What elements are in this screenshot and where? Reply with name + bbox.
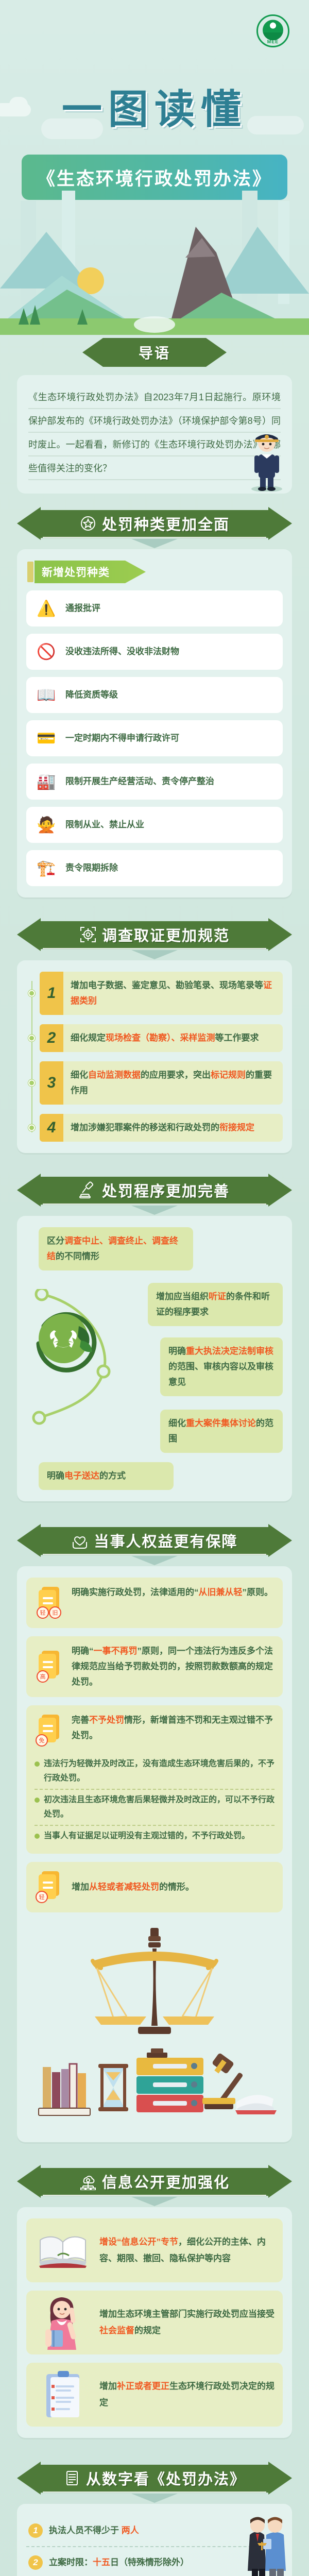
- disclosure-item[interactable]: 增加补正或者更正生态环境行政处罚决定的规定: [26, 2363, 283, 2427]
- ribbon-label: 新增处罚种类: [42, 564, 110, 580]
- judge-and-officer-icon: [241, 2508, 290, 2576]
- ribbon-body: 新增处罚种类: [35, 561, 146, 583]
- procedure-bubble[interactable]: 明确电子送达的方式: [39, 1462, 174, 1490]
- row-number: 4: [40, 1114, 63, 1142]
- banner-shape: 从数字看《处罚办法》: [17, 2462, 292, 2495]
- rights-item[interactable]: 免 完善不予处罚情形，新增首违不罚和无主观过错不予处罚。 违法行为轻微并及时改正…: [26, 1705, 283, 1854]
- row-highlight: 自动监测数据: [88, 1070, 141, 1080]
- banner-title: 处罚种类更加全面: [102, 513, 230, 534]
- lead-section: 导语 《生态环境行政处罚办法》自2023年7月1日起施行。原环境保护部发布的《环…: [0, 335, 309, 494]
- section-banner-disclosure: 信息公开更加强化: [17, 2165, 292, 2198]
- punishment-item[interactable]: 🙅 限制从业、禁止从业: [26, 807, 283, 843]
- banner-notch: [131, 1556, 178, 1565]
- sublist-item: 初次违法且生态环境危害后果轻微并及时改正的，可以不予行政处罚。: [35, 1790, 274, 1826]
- text-highlight: 社会监督: [99, 2326, 134, 2335]
- bubble-text-tail: 的方式: [99, 1471, 126, 1481]
- row-badge: 1: [28, 2523, 43, 2538]
- evidence-row[interactable]: 4 增加涉嫌犯罪案件的移送和行政处罚的衔接规定: [40, 1114, 283, 1142]
- row-text: 增加电子数据、鉴定意见、勘验笔录、现场笔录等: [71, 980, 263, 990]
- emblem-label: MEE: [258, 39, 288, 44]
- svg-text:高: 高: [40, 1673, 46, 1680]
- bubble-highlight: 重大案件集体讨论: [186, 1418, 256, 1428]
- rights-card: 轻 旧 明确实施行政处罚，法律适用的“从旧兼从轻”原则。 高 明确“一事不再罚”…: [17, 1566, 292, 2142]
- svg-text:免: 免: [39, 1737, 45, 1744]
- text-highlight: 两人: [122, 2526, 139, 2535]
- bubble-text-tail: 的范围、审核内容以及审核意见: [168, 1362, 273, 1387]
- row-text: 细化: [71, 1070, 88, 1080]
- banner-notch: [131, 539, 178, 548]
- lead-text: 《生态环境行政处罚办法》自2023年7月1日起施行。原环境保护部发布的《环境行政…: [28, 385, 281, 480]
- disclosure-item[interactable]: 增加生态环境主管部门实施行政处罚应当接受社会监督的规定: [26, 2291, 283, 2354]
- banner-title: 信息公开更加强化: [102, 2171, 230, 2192]
- row-text: 增加涉嫌犯罪案件的移送和行政处罚的: [71, 1123, 219, 1132]
- mee-emblem-icon: MEE: [256, 14, 289, 47]
- numbers-card: 1 执法人员不得少于 两人 2 立案时限：十五日（特殊情形除外） 3 作出处罚决…: [17, 2504, 292, 2576]
- rights-item[interactable]: 轻 旧 明确实施行政处罚，法律适用的“从旧兼从轻”原则。: [26, 1578, 283, 1628]
- banner-title: 处罚程序更加完善: [102, 1179, 230, 1201]
- procedure-bubble[interactable]: 细化重大案件集体讨论的范围: [160, 1410, 283, 1453]
- text-post: 的情形。: [159, 1882, 194, 1892]
- doc-stamp-icon: 高: [35, 1643, 64, 1690]
- punishment-item-label: 限制从业、禁止从业: [65, 819, 144, 831]
- sublist-text: 当事人有证据足以证明没有主观过错的，不予行政处罚。: [44, 1829, 250, 1843]
- officer-character-icon: [245, 423, 289, 492]
- rail-dot: [28, 1080, 35, 1087]
- text-pre: 明确实施行政处罚，法律适用的“: [72, 1587, 199, 1597]
- no-worker-icon: 🙅: [35, 813, 58, 837]
- evidence-row[interactable]: 1 增加电子数据、鉴定意见、勘验笔录、现场笔录等证据类别: [40, 972, 283, 1015]
- banner-notch: [131, 950, 178, 959]
- section-banner-procedure: 处罚程序更加完善: [17, 1174, 292, 1207]
- row-highlight: 衔接规定: [219, 1123, 254, 1132]
- banner-shape: 信息公开更加强化: [17, 2165, 292, 2198]
- mountain-landscape-illustration: [0, 170, 309, 335]
- numbers-row-text: 立案时限：十五日（特殊情形除外）: [49, 2554, 189, 2571]
- sublist-item: 违法行为轻微并及时改正，没有造成生态环境危害后果的，不予行政处罚。: [35, 1754, 274, 1790]
- punishment-item-label: 责令限期拆除: [65, 862, 118, 874]
- text-pre: 执法人员不得少于: [49, 2526, 122, 2535]
- text-highlight: 增设“信息公开”专节: [99, 2237, 178, 2247]
- text-highlight: 一事不再罚: [94, 1646, 138, 1656]
- cloud-network-icon: [79, 2173, 97, 2190]
- balance-scale-icon: [77, 1921, 232, 2039]
- crane-demolition-icon: 🏗️: [35, 856, 58, 880]
- banner-shape: 处罚种类更加全面: [17, 507, 292, 540]
- disclosure-item-text: 增加补正或者更正生态环境行政处罚决定的规定: [99, 2378, 274, 2411]
- punishment-item-label: 一定时期内不得申请行政许可: [65, 732, 179, 744]
- text-pre: 立案时限：: [49, 2557, 93, 2567]
- no-money-bag-icon: 🚫: [35, 640, 58, 664]
- procedure-bubble[interactable]: 区分调查中止、调查终止、调查终结的不同情形: [39, 1227, 193, 1270]
- row-body: 增加涉嫌犯罪案件的移送和行政处罚的衔接规定: [63, 1114, 283, 1142]
- text-highlight: 不予处罚: [89, 1715, 124, 1725]
- section-banner-punishment-types: 处罚种类更加全面: [17, 507, 292, 540]
- row-number: 2: [40, 1024, 63, 1052]
- text-pre: 完善: [72, 1715, 89, 1725]
- banner-title: 从数字看《处罚办法》: [86, 2467, 246, 2489]
- evidence-row[interactable]: 2 细化规定现场检查（勘察）、采样监测等工作要求: [40, 1024, 283, 1052]
- row-text-tail: 等工作要求: [215, 1033, 259, 1043]
- bubble-text: 明确: [47, 1471, 64, 1481]
- row-highlight-2: 标记规则: [211, 1070, 246, 1080]
- text-highlight: 从轻或者减轻处罚: [89, 1882, 159, 1892]
- list-rail: [31, 981, 32, 1132]
- punishment-item[interactable]: 🏗️ 责令限期拆除: [26, 850, 283, 886]
- numbers-row-text: 执法人员不得少于 两人: [49, 2522, 139, 2539]
- section-banner-evidence: 调查取证更加规范: [17, 918, 292, 951]
- text-pre: 增加: [72, 1882, 89, 1892]
- star-badge-icon: [79, 515, 97, 532]
- bubble-text: 区分: [47, 1236, 64, 1246]
- lead-banner: 导语: [82, 338, 227, 367]
- no-penalty-sublist: 违法行为轻微并及时改正，没有造成生态环境危害后果的，不予行政处罚。 初次违法且生…: [35, 1754, 274, 1846]
- row-body: 增加电子数据、鉴定意见、勘验笔录、现场笔录等证据类别: [63, 972, 283, 1015]
- text-post: 日（特殊情形除外）: [110, 2557, 189, 2567]
- infographic-page: MEE 一图读懂 《生态环境行政处罚办法》: [0, 0, 309, 2576]
- bubble-text-tail: 的不同情形: [56, 1251, 99, 1261]
- doc-stamp-icon: 轻: [35, 1869, 64, 1905]
- open-book-icon: 📖: [35, 683, 58, 707]
- sublist-text: 初次违法且生态环境危害后果轻微并及时改正的，可以不予行政处罚。: [44, 1793, 274, 1822]
- punishment-types-card: 新增处罚种类 ⚠️ 通报批评 🚫 没收违法所得、没收非法财物 📖 降低资质等级 …: [17, 549, 292, 897]
- disclosure-card: 增设“信息公开”专节，细化公开的主体、内容、期限、撤回、隐私保护等内容: [17, 2207, 292, 2438]
- page-title: 一图读懂: [0, 77, 309, 135]
- bubble-text: 增加应当组织: [156, 1292, 209, 1301]
- rail-dot: [28, 1035, 35, 1042]
- procedure-bubble[interactable]: 明确重大执法决定法制审核的范围、审核内容以及审核意见: [160, 1337, 283, 1396]
- bubble-highlight: 重大执法决定法制审核: [186, 1346, 273, 1356]
- bubble-text: 明确: [168, 1346, 186, 1356]
- svg-text:轻: 轻: [39, 1893, 45, 1901]
- row-body: 细化自动监测数据的应用要求，突出标记规则的重要作用: [63, 1061, 283, 1105]
- woman-pointing-icon: [35, 2298, 91, 2347]
- lead-banner-wrap: 导语: [82, 338, 227, 367]
- law-books-hourglass-gavel-icon: [26, 2039, 283, 2131]
- bubble-highlight: 电子送达: [64, 1471, 99, 1481]
- text-highlight: 补正或者更正: [117, 2381, 169, 2391]
- rail-dot: [28, 1125, 35, 1131]
- row-badge: 2: [28, 2555, 43, 2570]
- punishment-item-label: 限制开展生产经营活动、责令停产整治: [65, 775, 214, 788]
- row-text: 细化规定: [71, 1033, 106, 1043]
- gavel-icon: [79, 1181, 97, 1199]
- rights-item-text: 明确“一事不再罚”原则，同一个违法行为违反多个法律规范应当给予罚款处罚的，按照罚…: [72, 1643, 274, 1690]
- text-highlight: 十五: [93, 2557, 110, 2567]
- lead-paragraph: 《生态环境行政处罚办法》自2023年7月1日起施行。原环境保护部发布的《环境行政…: [28, 385, 281, 480]
- no-factory-icon: 🏭: [35, 770, 58, 793]
- banner-shape: 调查取证更加规范: [17, 918, 292, 951]
- book-icon: [63, 2469, 81, 2487]
- punishment-item-label: 通报批评: [65, 602, 100, 615]
- lead-banner-label: 导语: [139, 342, 170, 363]
- section-banner-rights: 当事人权益更有保障: [17, 1524, 292, 1557]
- punishment-item[interactable]: 📖 降低资质等级: [26, 677, 283, 713]
- text-post: ”原则。: [243, 1587, 273, 1597]
- banner-shape: 处罚程序更加完善: [17, 1174, 292, 1207]
- rail-dot: [28, 990, 35, 997]
- text-post: 的规定: [134, 2326, 161, 2335]
- disclosure-item-text: 增设“信息公开”专节，细化公开的主体、内容、期限、撤回、隐私保护等内容: [99, 2234, 274, 2267]
- evidence-card: 1 增加电子数据、鉴定意见、勘验笔录、现场笔录等证据类别 2 细化规定现场检查（…: [17, 960, 292, 1153]
- svg-text:旧: 旧: [53, 1609, 58, 1616]
- new-types-ribbon: 新增处罚种类: [27, 561, 146, 583]
- punishment-item[interactable]: ⚠️ 通报批评: [26, 590, 283, 626]
- recycle-heart-leaf-icon: [29, 1304, 101, 1377]
- banner-title: 当事人权益更有保障: [94, 1530, 237, 1551]
- punishment-item[interactable]: 🚫 没收违法所得、没收非法财物: [26, 634, 283, 670]
- rights-item[interactable]: 轻 增加从轻或者减轻处罚的情形。: [26, 1862, 283, 1912]
- warning-triangle-icon: ⚠️: [35, 597, 58, 620]
- lead-card: 《生态环境行政处罚办法》自2023年7月1日起施行。原环境保护部发布的《环境行政…: [17, 375, 292, 494]
- row-number: 3: [40, 1061, 63, 1105]
- rights-item-text: 增加从轻或者减轻处罚的情形。: [72, 1879, 194, 1895]
- sublist-text: 违法行为轻微并及时改正，没有造成生态环境危害后果的，不予行政处罚。: [44, 1757, 274, 1786]
- bubble-highlight: 听证: [209, 1292, 226, 1301]
- banner-notch: [131, 2494, 178, 2503]
- doc-stamp-icon: 轻 旧: [35, 1585, 64, 1621]
- procedure-bubble[interactable]: 增加应当组织听证的条件和听证的程序要求: [148, 1283, 283, 1326]
- disclosure-item[interactable]: 增设“信息公开”专节，细化公开的主体、内容、期限、撤回、隐私保护等内容: [26, 2218, 283, 2282]
- ribbon-tail: [27, 562, 33, 582]
- permit-card-icon: 💳: [35, 726, 58, 750]
- clipboard-checklist-icon: [35, 2370, 91, 2419]
- doc-stamp-icon: 免: [35, 1713, 64, 1749]
- text-pre: 明确“: [72, 1646, 94, 1656]
- disclosure-item-text: 增加生态环境主管部门实施行政处罚应当接受社会监督的规定: [99, 2306, 274, 2339]
- sublist-item: 当事人有证据足以证明没有主观过错的，不予行政处罚。: [35, 1826, 274, 1846]
- evidence-numbered-list: 1 增加电子数据、鉴定意见、勘验笔录、现场笔录等证据类别 2 细化规定现场检查（…: [26, 972, 283, 1142]
- procedure-flow: 区分调查中止、调查终止、调查终结的不同情形 增加应当组织听证的条件和听证的程序要…: [26, 1227, 283, 1490]
- hero-header: MEE 一图读懂 《生态环境行政处罚办法》: [0, 0, 309, 335]
- svg-text:轻: 轻: [40, 1609, 46, 1616]
- banner-notch: [131, 2197, 178, 2206]
- rights-item[interactable]: 高 明确“一事不再罚”原则，同一个违法行为违反多个法律规范应当给予罚款处罚的，按…: [26, 1636, 283, 1697]
- banner-notch: [131, 1206, 178, 1215]
- row-text-mid: 的应用要求，突出: [141, 1070, 211, 1080]
- banner-shape: 当事人权益更有保障: [17, 1524, 292, 1557]
- punishment-item-label: 降低资质等级: [65, 689, 118, 701]
- rights-item-text: 明确实施行政处罚，法律适用的“从旧兼从轻”原则。: [72, 1585, 273, 1621]
- punishment-item[interactable]: 💳 一定时期内不得申请行政许可: [26, 720, 283, 756]
- target-scan-icon: [79, 926, 97, 943]
- rights-item-text: 完善不予处罚情形，新增首违不罚和无主观过错不予处罚。: [72, 1713, 274, 1749]
- bubble-text: 细化: [168, 1418, 186, 1428]
- text-highlight: 从旧兼从轻: [199, 1587, 243, 1597]
- section-banner-numbers: 从数字看《处罚办法》: [17, 2462, 292, 2495]
- banner-title: 调查取证更加规范: [102, 924, 230, 945]
- open-book-icon: [35, 2226, 91, 2275]
- row-body: 细化规定现场检查（勘察）、采样监测等工作要求: [63, 1024, 283, 1052]
- row-number: 1: [40, 972, 63, 1015]
- row-highlight: 现场检查（勘察）、采样监测: [106, 1033, 215, 1043]
- punishment-item[interactable]: 🏭 限制开展生产经营活动、责令停产整治: [26, 764, 283, 800]
- procedure-card: 区分调查中止、调查终止、调查终结的不同情形 增加应当组织听证的条件和听证的程序要…: [17, 1216, 292, 1501]
- hands-heart-icon: [71, 1532, 89, 1549]
- punishment-item-label: 没收违法所得、没收非法财物: [65, 646, 179, 658]
- text-pre: 增加: [99, 2381, 117, 2391]
- evidence-row[interactable]: 3 细化自动监测数据的应用要求，突出标记规则的重要作用: [40, 1061, 283, 1105]
- text-pre: 增加生态环境主管部门实施行政处罚应当接受: [99, 2309, 274, 2319]
